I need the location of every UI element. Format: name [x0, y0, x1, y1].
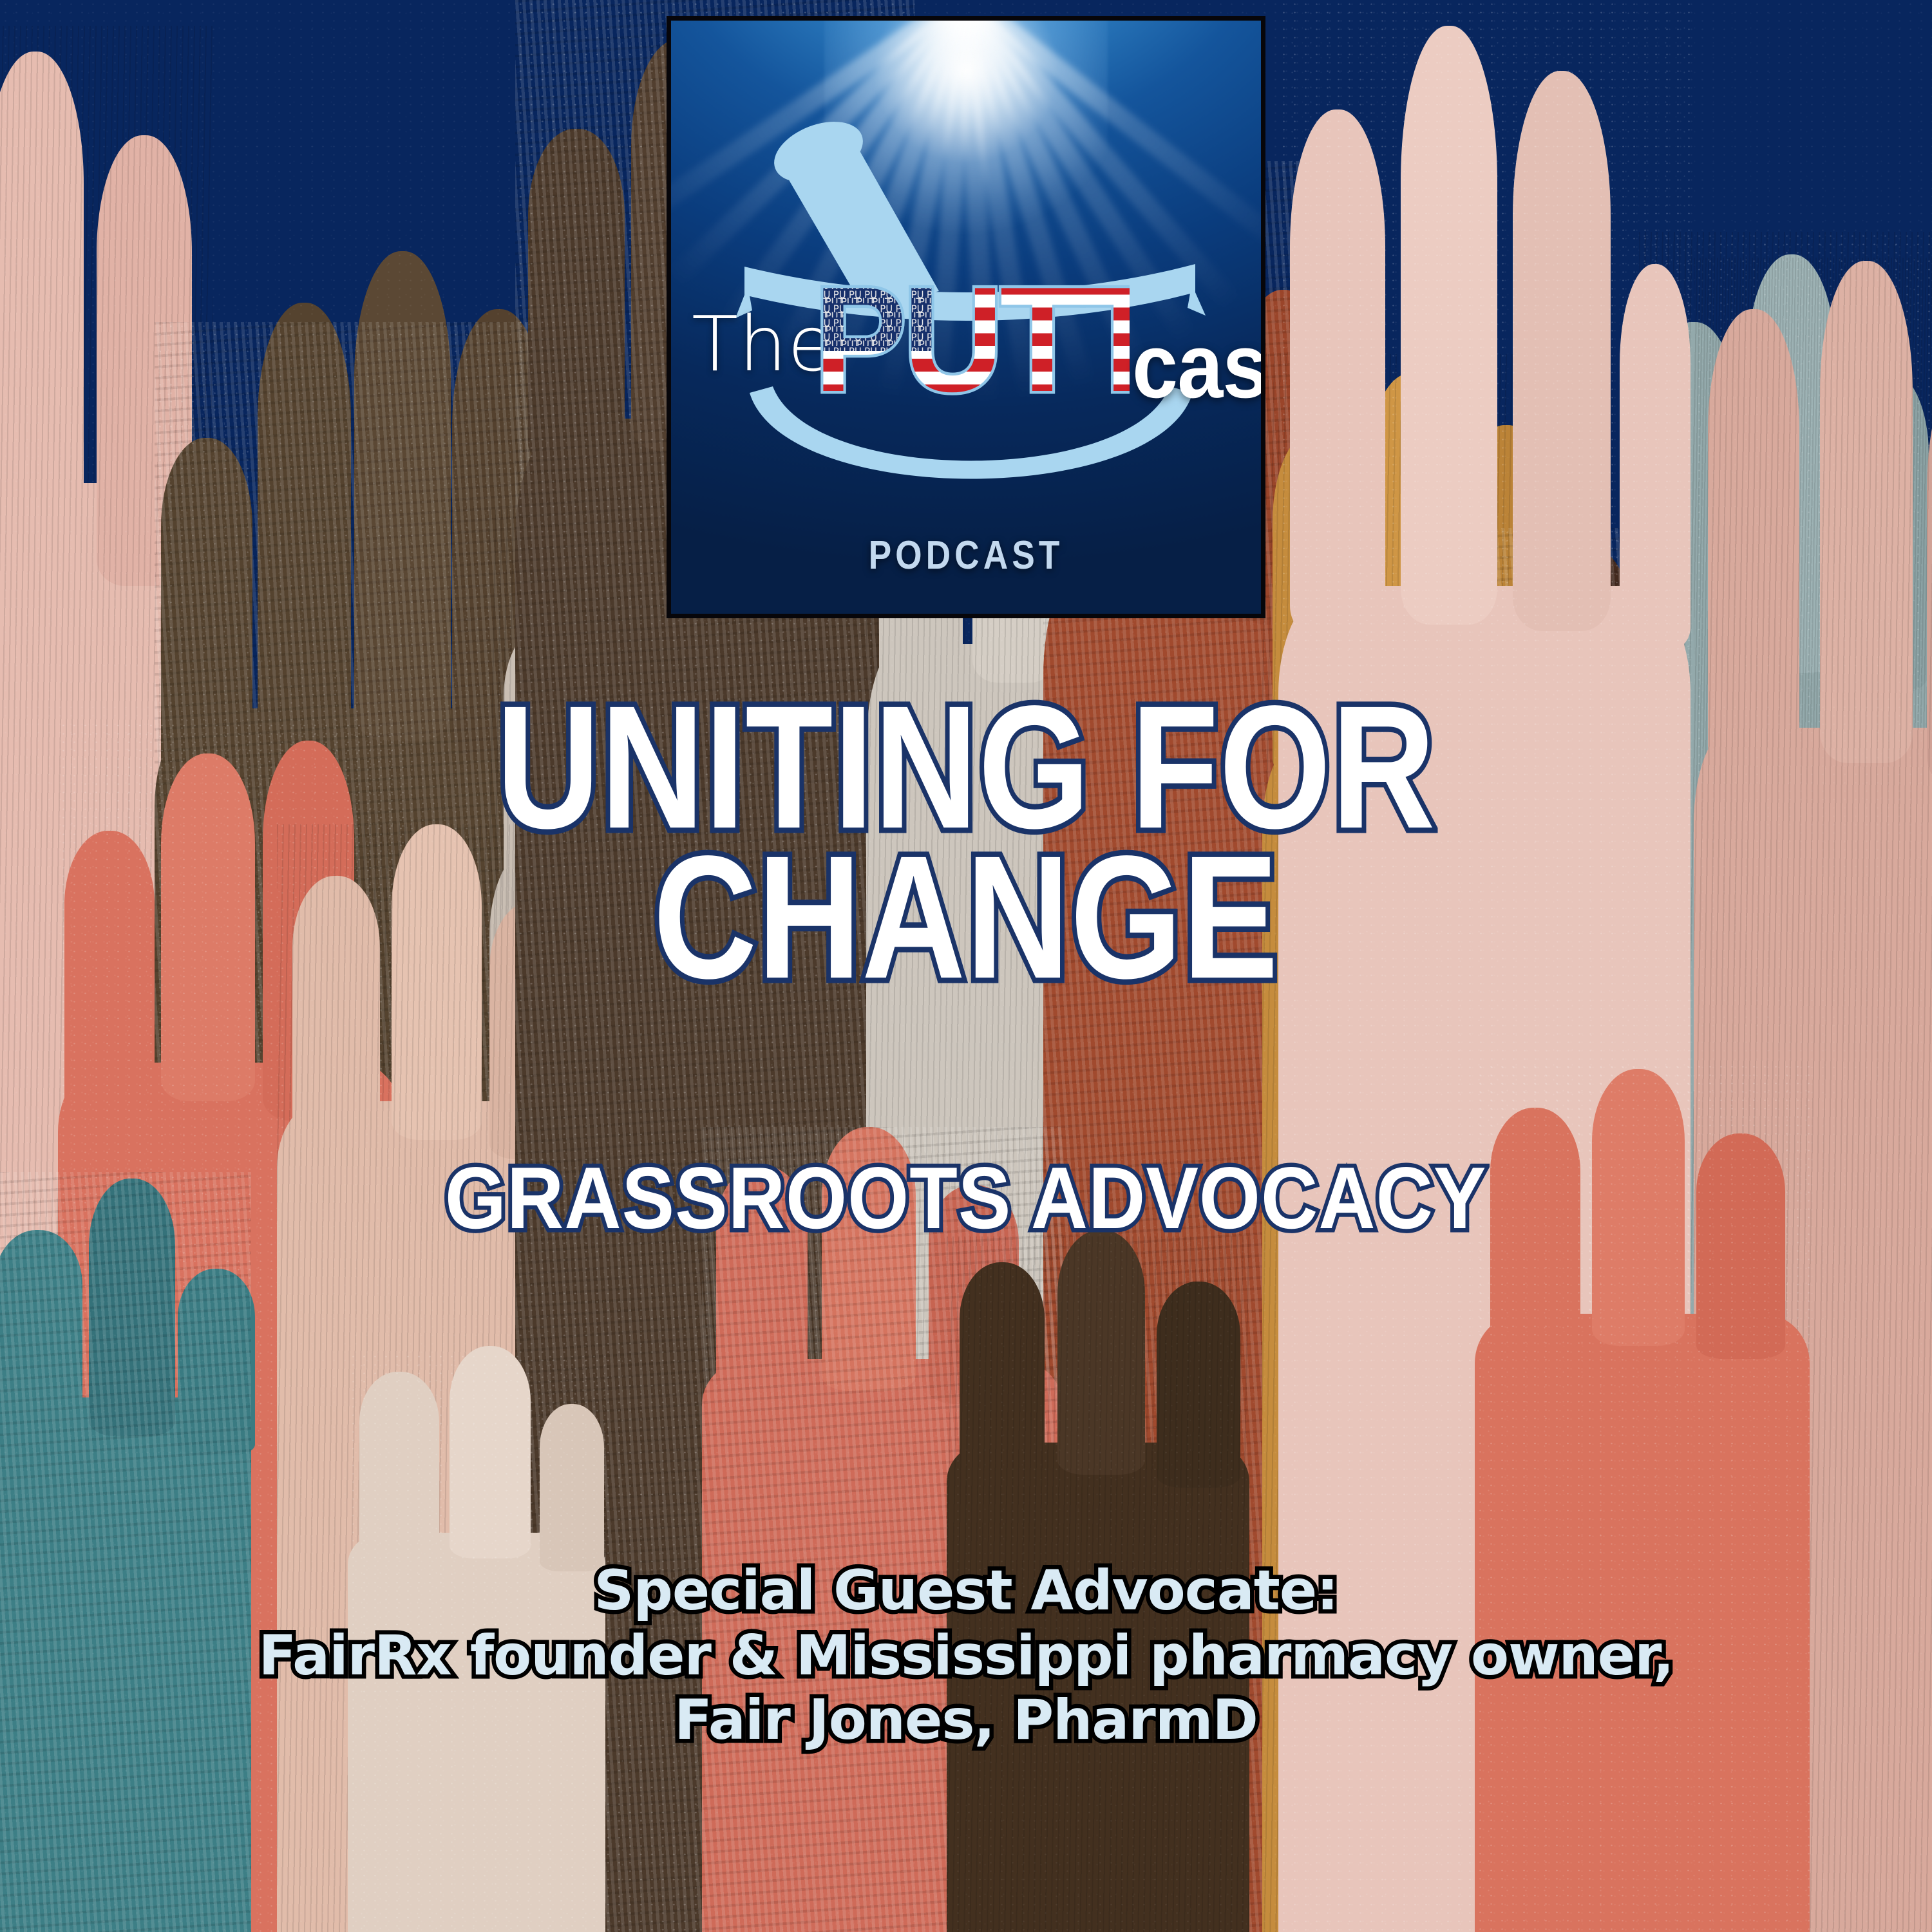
- episode-title-line-2: CHANGE: [174, 842, 1758, 992]
- podcast-label: PODCAST: [712, 533, 1220, 578]
- brand-wordmark: The: [671, 275, 1261, 436]
- guest-credits-line-2: FairRx founder & Mississippi pharmacy ow…: [0, 1624, 1932, 1689]
- guest-credits: Special Guest Advocate: FairRx founder &…: [0, 1558, 1932, 1753]
- guest-credits-line-3: Fair Jones, PharmD: [0, 1688, 1932, 1753]
- putt-brand-letters: PUTT PUTT PUTT PUTT PUTT: [814, 275, 1130, 413]
- guest-credits-line-1: Special Guest Advocate:: [0, 1558, 1932, 1624]
- episode-subtitle: GRASSROOTS ADVOCACY: [0, 1148, 1932, 1248]
- episode-subtitle-text: GRASSROOTS ADVOCACY: [445, 1148, 1487, 1248]
- podcast-cover-art: The: [0, 0, 1932, 1932]
- cast-label: cast: [1132, 329, 1265, 404]
- episode-title: UNITING FOR CHANGE: [0, 692, 1932, 992]
- podcast-logo-card: The: [667, 16, 1265, 618]
